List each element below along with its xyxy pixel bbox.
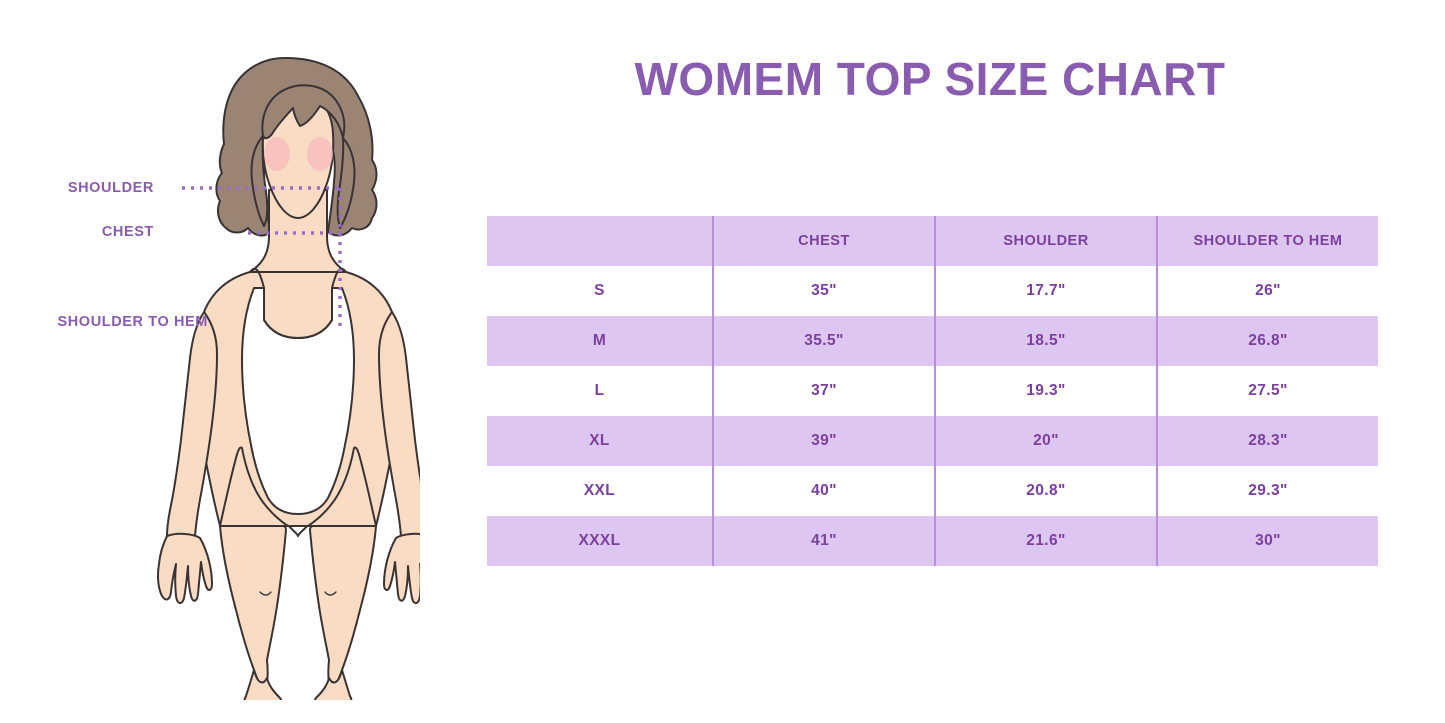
label-shoulder: SHOULDER	[68, 180, 154, 196]
left-leg	[220, 526, 286, 688]
blush-right	[307, 137, 333, 171]
cell-size: XXL	[487, 466, 713, 516]
left-hand	[158, 534, 212, 603]
cell-shoulder: 21.6"	[935, 516, 1157, 566]
cell-shoulder: 17.7"	[935, 266, 1157, 316]
figure-panel: SHOULDER CHEST SHOULDER TO HEM	[0, 0, 470, 723]
table-row: XL 39" 20" 28.3"	[487, 416, 1378, 466]
label-shoulder-to-hem: SHOULDER TO HEM	[57, 314, 208, 330]
page-title: WOMEM TOP SIZE CHART	[487, 52, 1373, 106]
table-row: L 37" 19.3" 27.5"	[487, 366, 1378, 416]
cell-chest: 35"	[713, 266, 935, 316]
cell-chest: 37"	[713, 366, 935, 416]
label-chest: CHEST	[102, 224, 154, 240]
header-shoulder-to-hem: SHOULDER TO HEM	[1157, 216, 1378, 266]
female-body-illustration	[150, 40, 420, 700]
right-leg	[310, 526, 376, 688]
cell-shoulder-to-hem: 26.8"	[1157, 316, 1378, 366]
size-chart-table: CHEST SHOULDER SHOULDER TO HEM S 35" 17.…	[487, 216, 1378, 566]
table-header-row: CHEST SHOULDER SHOULDER TO HEM	[487, 216, 1378, 266]
cell-shoulder-to-hem: 30"	[1157, 516, 1378, 566]
right-hand	[384, 534, 420, 603]
right-arm	[379, 312, 420, 536]
cell-size: XXXL	[487, 516, 713, 566]
cell-size: XL	[487, 416, 713, 466]
cell-shoulder-to-hem: 26"	[1157, 266, 1378, 316]
size-chart-page: SHOULDER CHEST SHOULDER TO HEM WOMEM TOP…	[0, 0, 1445, 723]
table-row: S 35" 17.7" 26"	[487, 266, 1378, 316]
cell-chest: 35.5"	[713, 316, 935, 366]
cell-size: S	[487, 266, 713, 316]
header-chest: CHEST	[713, 216, 935, 266]
cell-chest: 39"	[713, 416, 935, 466]
cell-size: L	[487, 366, 713, 416]
header-size	[487, 216, 713, 266]
cell-shoulder: 20"	[935, 416, 1157, 466]
table-row: XXXL 41" 21.6" 30"	[487, 516, 1378, 566]
cell-size: M	[487, 316, 713, 366]
header-shoulder: SHOULDER	[935, 216, 1157, 266]
cell-shoulder: 19.3"	[935, 366, 1157, 416]
blush-left	[264, 137, 290, 171]
table-row: XXL 40" 20.8" 29.3"	[487, 466, 1378, 516]
cell-shoulder: 18.5"	[935, 316, 1157, 366]
cell-shoulder-to-hem: 28.3"	[1157, 416, 1378, 466]
cell-shoulder-to-hem: 27.5"	[1157, 366, 1378, 416]
left-arm	[167, 312, 217, 536]
table-row: M 35.5" 18.5" 26.8"	[487, 316, 1378, 366]
cell-chest: 41"	[713, 516, 935, 566]
crotch-line	[289, 526, 307, 536]
cell-chest: 40"	[713, 466, 935, 516]
cell-shoulder-to-hem: 29.3"	[1157, 466, 1378, 516]
cell-shoulder: 20.8"	[935, 466, 1157, 516]
